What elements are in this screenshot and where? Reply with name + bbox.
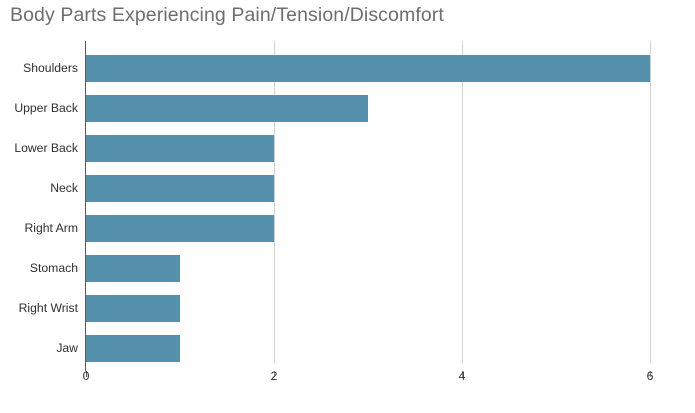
x-axis-tick-labels: 0246 — [86, 369, 650, 393]
y-axis-tick-label: Shoulders — [0, 55, 78, 82]
bar-fill — [86, 295, 180, 322]
bar-fill — [86, 255, 180, 282]
bar — [86, 215, 274, 242]
x-axis-tick-label: 2 — [271, 369, 278, 383]
bar — [86, 55, 650, 82]
bar — [86, 95, 368, 122]
bar — [86, 335, 180, 362]
bar-fill — [86, 335, 180, 362]
bar-fill — [86, 55, 650, 82]
y-axis-tick-label: Stomach — [0, 255, 78, 282]
x-axis-tick-label: 0 — [83, 369, 90, 383]
bar — [86, 175, 274, 202]
y-axis-tick-label: Right Wrist — [0, 295, 78, 322]
bar-fill — [86, 215, 274, 242]
bar — [86, 135, 274, 162]
chart-title: Body Parts Experiencing Pain/Tension/Dis… — [10, 4, 444, 27]
bar-chart: Body Parts Experiencing Pain/Tension/Dis… — [0, 0, 695, 413]
bar-fill — [86, 175, 274, 202]
bar — [86, 255, 180, 282]
gridline — [462, 41, 463, 363]
x-axis-tick-label: 4 — [459, 369, 466, 383]
y-axis-tick-labels: ShouldersUpper BackLower BackNeckRight A… — [0, 41, 78, 363]
y-axis-tick-label: Neck — [0, 175, 78, 202]
bar-fill — [86, 135, 274, 162]
y-axis-tick-label: Jaw — [0, 335, 78, 362]
y-axis-tick-label: Lower Back — [0, 135, 78, 162]
y-axis-tick-label: Upper Back — [0, 95, 78, 122]
plot-area — [86, 41, 650, 363]
gridline — [274, 41, 275, 363]
y-axis-tick-label: Right Arm — [0, 215, 78, 242]
bar — [86, 295, 180, 322]
gridline — [650, 41, 651, 363]
bar-fill — [86, 95, 368, 122]
x-axis-tick-label: 6 — [647, 369, 654, 383]
